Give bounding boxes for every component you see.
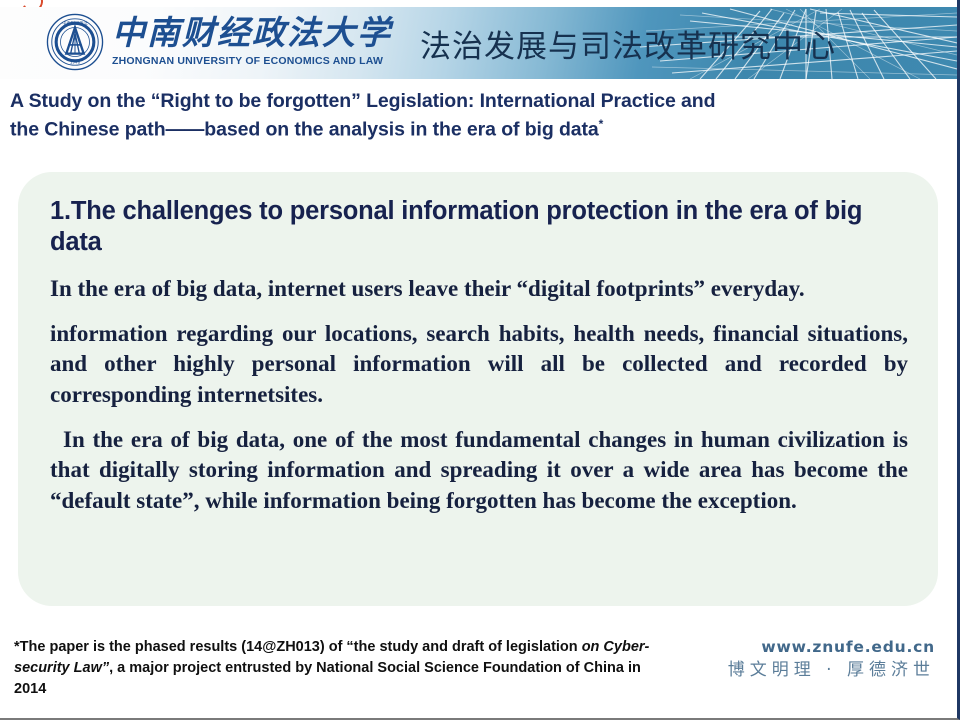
footnote-part1: The paper is the phased results (14@ZH01… bbox=[20, 639, 582, 655]
page-title-line2: the Chinese path——based on the analysis … bbox=[10, 118, 599, 140]
page-title-footnote-marker: * bbox=[599, 117, 604, 131]
body-paragraph-1: In the era of big data, internet users l… bbox=[50, 274, 908, 305]
header-banner: 中南财经政法 1948 中南财经政法大学 ZHONGNAN UNIVERSITY… bbox=[0, 7, 957, 79]
section-heading: 1.The challenges to personal information… bbox=[50, 196, 908, 258]
logo-english-name: ZHONGNAN UNIVERSITY OF ECONOMICS AND LAW bbox=[112, 56, 392, 67]
brand-block: www.znufe.edu.cn 博文明理 · 厚德济世 bbox=[728, 638, 935, 682]
university-logo: 中南财经政法 1948 中南财经政法大学 ZHONGNAN UNIVERSITY… bbox=[46, 13, 392, 71]
page-title-line1: A Study on the “Right to be forgotten” L… bbox=[10, 90, 715, 112]
slide-canvas: 中南财经政法 1948 中南财经政法大学 ZHONGNAN UNIVERSITY… bbox=[0, 0, 960, 720]
svg-text:中南财经政法: 中南财经政法 bbox=[62, 20, 88, 27]
university-seal-icon: 中南财经政法 1948 bbox=[46, 13, 104, 71]
footnote-part2: , a major project entrusted by National … bbox=[14, 660, 641, 697]
body-paragraph-3: In the era of big data, one of the most … bbox=[50, 425, 908, 517]
footnote: *The paper is the phased results (14@ZH0… bbox=[14, 637, 664, 700]
body-paragraph-2: information regarding our locations, sea… bbox=[50, 319, 908, 411]
content-card: 1.The challenges to personal information… bbox=[18, 172, 938, 606]
center-title: 法治发展与司法改革研究中心 bbox=[420, 21, 836, 66]
svg-text:1948: 1948 bbox=[70, 59, 81, 64]
brand-website-url: www.znufe.edu.cn bbox=[728, 638, 935, 657]
page-title: A Study on the “Right to be forgotten” L… bbox=[10, 88, 910, 144]
logo-chinese-name: 中南财经政法大学 bbox=[112, 18, 392, 51]
brand-motto: 博文明理 · 厚德济世 bbox=[728, 659, 935, 682]
